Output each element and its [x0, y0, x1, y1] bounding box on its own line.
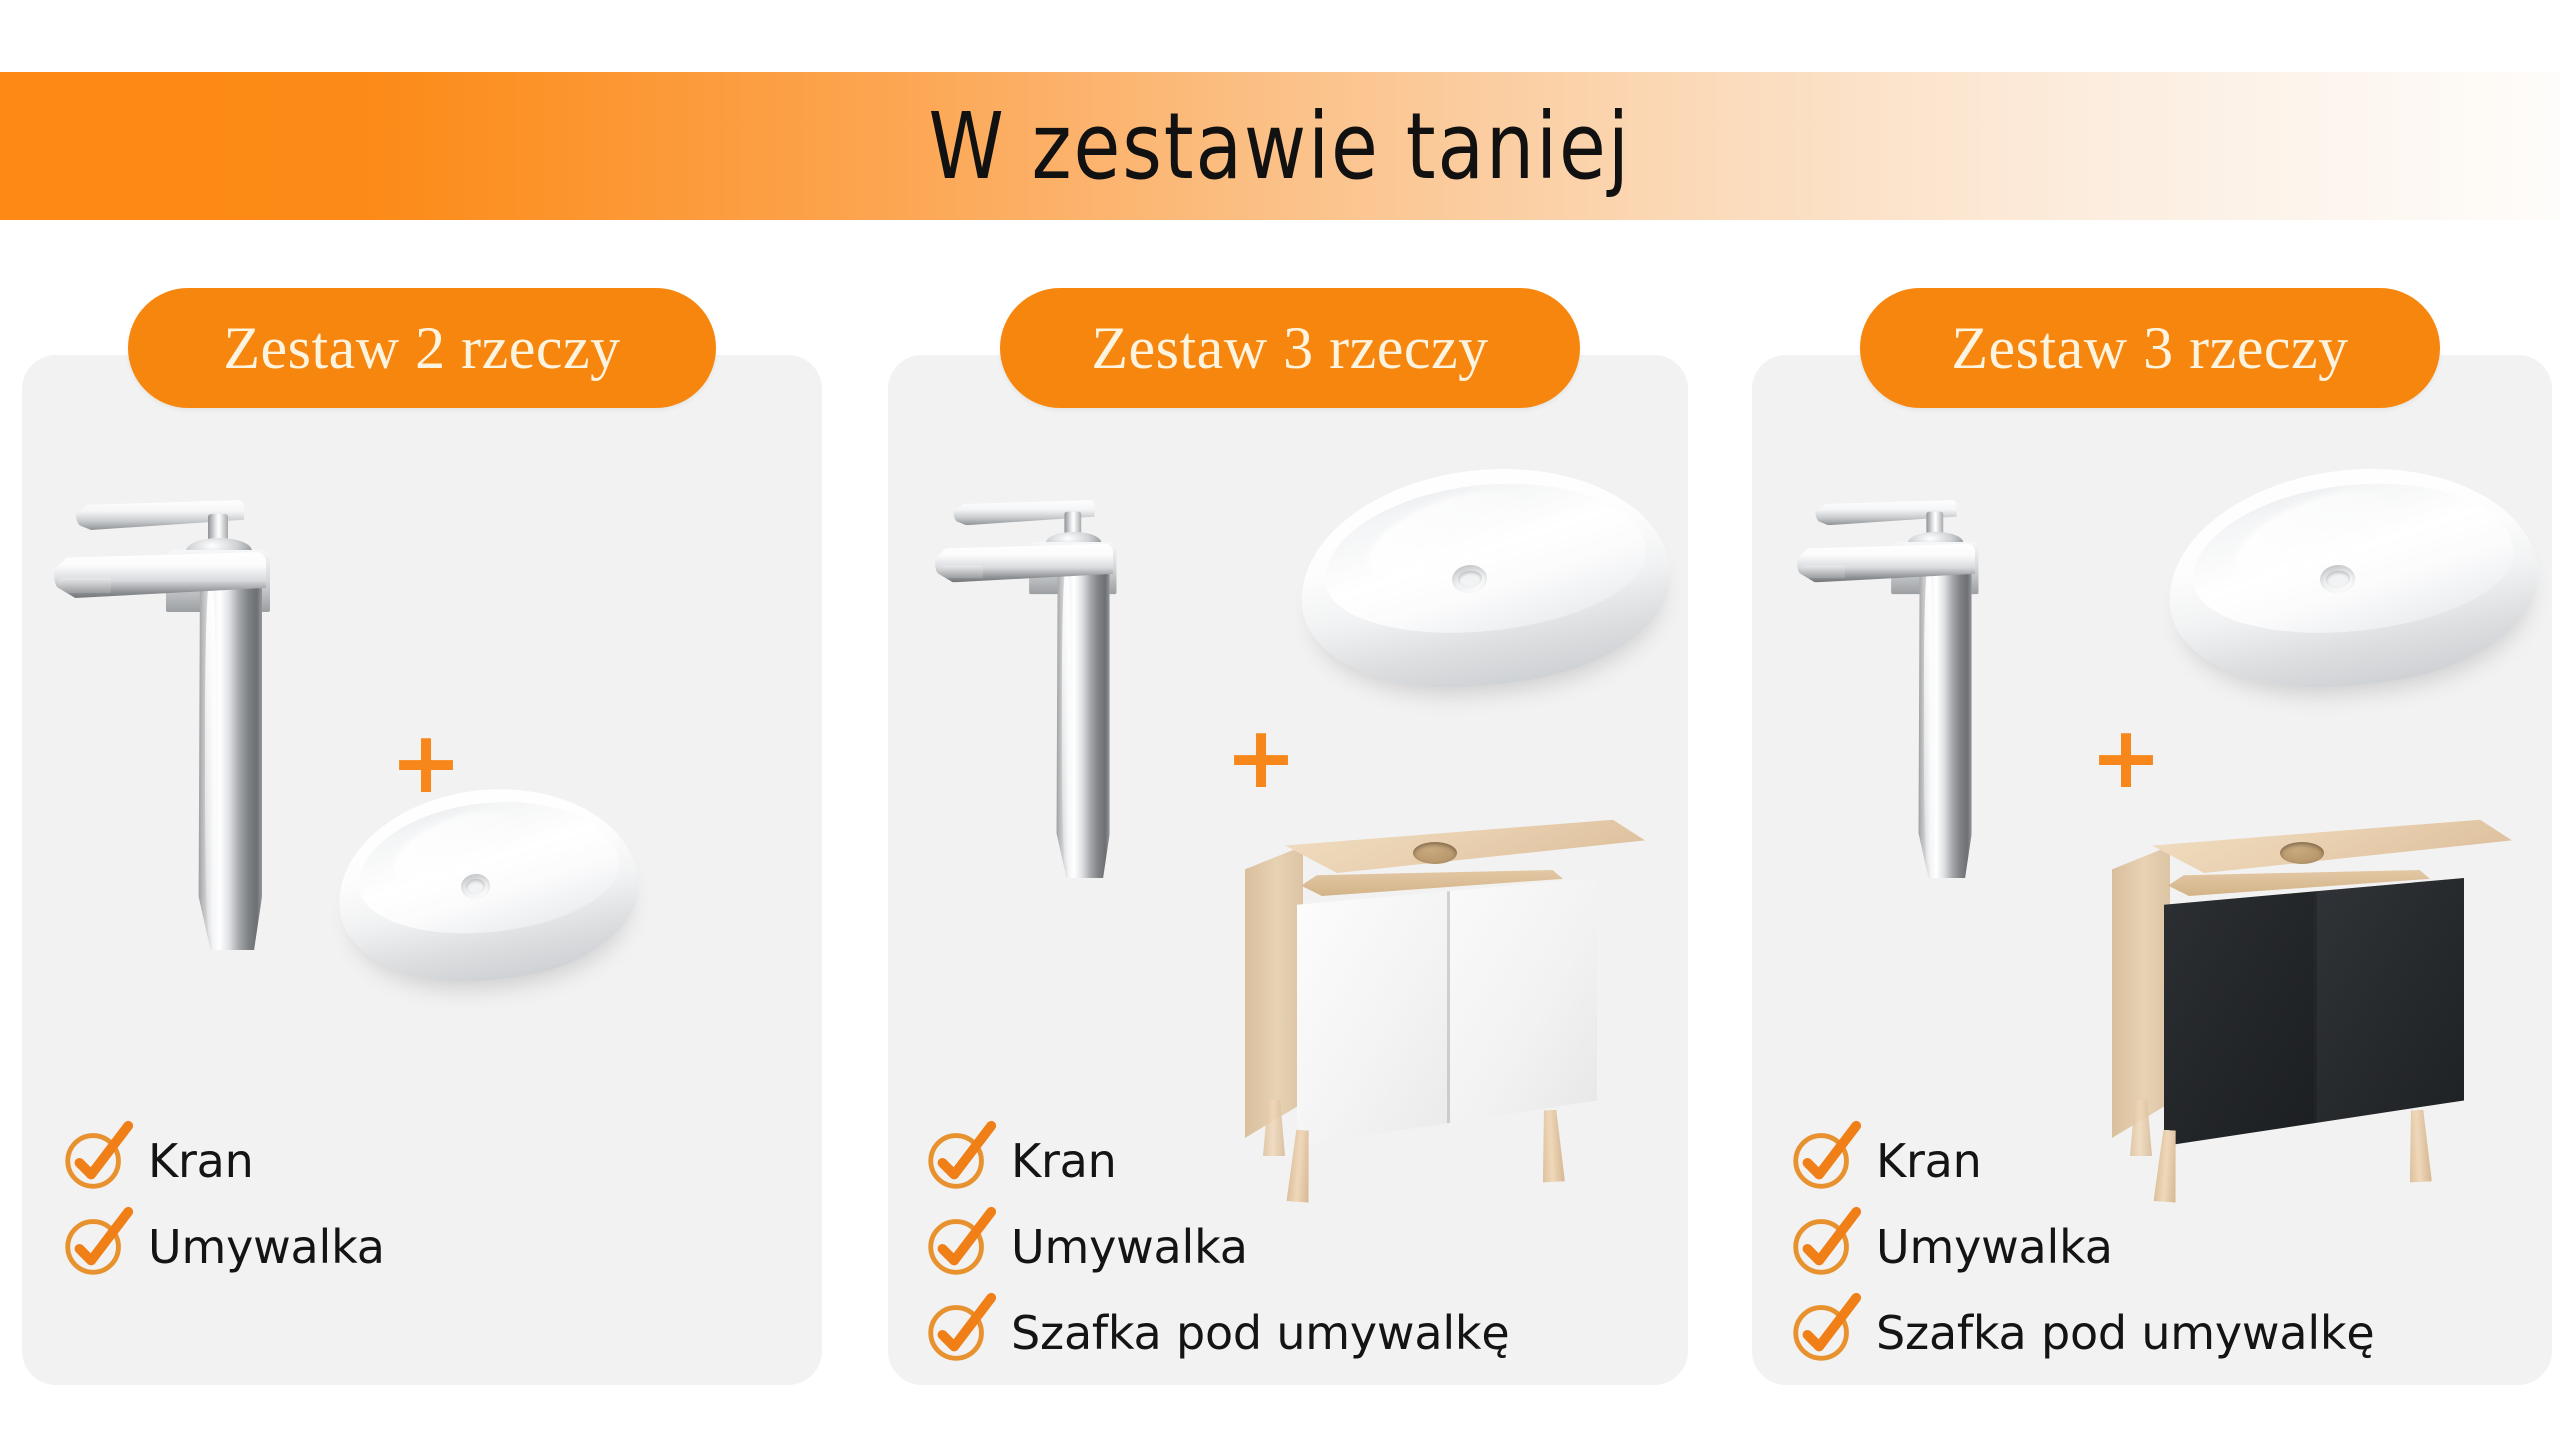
feature-label: Kran: [1876, 1134, 1982, 1188]
cabinet-side-panel: [1245, 846, 1303, 1138]
feature-label: Umywalka: [1876, 1220, 2113, 1274]
cabinet-door-left: [1297, 878, 1447, 1146]
cabinet-cable-hole: [1413, 842, 1457, 864]
product-basin-2: [1300, 470, 1670, 685]
badge-label: Zestaw 3 rzeczy: [1951, 314, 2348, 383]
feature-list-1: Kran Umywalka: [62, 1118, 385, 1290]
badge-bundle-1[interactable]: Zestaw 2 rzeczy: [128, 288, 716, 408]
list-item: Umywalka: [62, 1204, 385, 1290]
cabinet-door-seam: [1447, 878, 1450, 1146]
plus-separator-1: +: [390, 720, 462, 806]
badge-bundle-2[interactable]: Zestaw 3 rzeczy: [1000, 288, 1580, 408]
feature-label: Umywalka: [1011, 1220, 1248, 1274]
feature-label: Kran: [148, 1134, 254, 1188]
check-circle-icon: [925, 1302, 987, 1364]
list-item: Kran: [62, 1118, 385, 1204]
cabinet-door-left: [2164, 878, 2314, 1146]
check-circle-icon: [925, 1130, 987, 1192]
faucet-column: [1054, 559, 1109, 878]
feature-label: Kran: [1011, 1134, 1117, 1188]
feature-list-2: Kran Umywalka Szafka pod: [925, 1118, 1509, 1376]
bundle-cards: + Kran Umywalka: [0, 0, 2560, 1440]
product-faucet-1: [48, 500, 288, 970]
cabinet-side-panel: [2112, 846, 2170, 1138]
cabinet-leg-front-right: [1539, 1109, 1565, 1182]
product-faucet-3: [1792, 500, 1994, 870]
cabinet-door-right: [2314, 878, 2464, 1146]
list-item: Szafka pod umywalkę: [925, 1290, 1509, 1376]
cabinet-door-right: [1447, 878, 1597, 1146]
check-circle-icon: [1790, 1216, 1852, 1278]
plus-separator-3: +: [2090, 715, 2162, 801]
badge-bundle-3[interactable]: Zestaw 3 rzeczy: [1860, 288, 2440, 408]
check-circle-icon: [62, 1216, 124, 1278]
list-item: Szafka pod umywalkę: [1790, 1290, 2374, 1376]
feature-list-3: Kran Umywalka Szafka pod: [1790, 1118, 2374, 1376]
badge-label: Zestaw 3 rzeczy: [1091, 314, 1488, 383]
list-item: Umywalka: [925, 1204, 1509, 1290]
plus-separator-2: +: [1225, 715, 1297, 801]
cabinet-leg-front-right: [2406, 1109, 2432, 1182]
faucet-column: [196, 570, 262, 950]
product-basin-3: [2168, 470, 2538, 685]
feature-label: Szafka pod umywalkę: [1876, 1306, 2374, 1360]
cabinet-doors[interactable]: [2164, 878, 2464, 1146]
product-basin-1: [338, 790, 638, 980]
faucet-column: [1916, 559, 1971, 878]
check-circle-icon: [925, 1216, 987, 1278]
feature-label: Szafka pod umywalkę: [1011, 1306, 1509, 1360]
badge-label: Zestaw 2 rzeczy: [223, 314, 620, 383]
cabinet-door-seam: [2314, 878, 2317, 1146]
list-item: Kran: [1790, 1118, 2374, 1204]
cabinet-cable-hole: [2280, 842, 2324, 864]
check-circle-icon: [1790, 1302, 1852, 1364]
promo-banner-page: W zestawie taniej +: [0, 0, 2560, 1440]
product-faucet-2: [930, 500, 1132, 870]
check-circle-icon: [1790, 1130, 1852, 1192]
check-circle-icon: [62, 1130, 124, 1192]
cabinet-doors[interactable]: [1297, 878, 1597, 1146]
feature-label: Umywalka: [148, 1220, 385, 1274]
list-item: Umywalka: [1790, 1204, 2374, 1290]
list-item: Kran: [925, 1118, 1509, 1204]
